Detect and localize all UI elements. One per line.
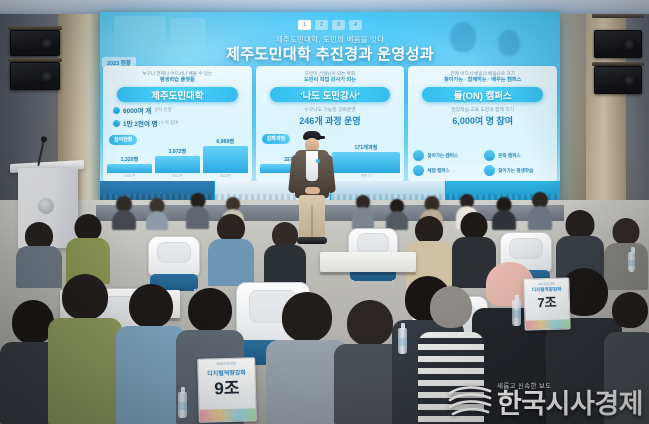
slide-badge-3: 3 [332,20,345,30]
chip-item: 찾아가는 평생학습 [484,165,552,176]
audience-person [264,222,306,288]
audience-person [352,195,374,229]
audience-person [112,196,136,230]
chip-item: 문화 캠퍼스 [484,150,552,161]
column-1-stat-1: 6000여 개 강좌 운영 [113,105,248,115]
tent-decoration [525,319,569,329]
right-speaker-upper [594,30,642,58]
slide-badge-1: 1 [298,20,311,30]
left-speaker-lower [10,62,60,90]
audience-person [48,274,122,424]
culture-icon [484,150,495,161]
column-1-stat-2: 1만 2천여 명 누적 참여 [113,118,248,128]
right-speaker-lower [594,66,642,94]
column-1-kicker: 누구나 언제나 어디서나 배울 수 있는 평생학습 플랫폼 [107,71,248,84]
tent-group-number: 7조 [525,295,569,309]
slide-column-3: 언제 어디서 배움의 배움으로 가기 찾아가는 · 함께하는 · 배우는 캠퍼스… [408,66,557,182]
book-icon [113,107,120,114]
chip-item: 찾아가는 캠퍼스 [413,150,481,161]
slide-badge-4: 4 [349,20,362,30]
photo-scene: 1 2 3 4 제주도민대학, 도민의 배움을 잇다 제주도민대학 추진경과 운… [0,0,649,424]
audience-person-striped [418,286,484,424]
water-bottle [512,300,521,326]
audience-person [528,192,552,230]
column-2-midbig: 246개 과정 운영 [260,114,401,127]
water-bottle [398,328,407,354]
table-tent-sign-9: 제주도민대학 디지털역량강화 9조 [197,357,257,422]
column-3-kicker: 언제 어디서 배움의 배움으로 가기 찾아가는 · 함께하는 · 배우는 캠퍼스 [412,71,553,84]
table-tent-sign-7: 제주도민대학 디지털역량강화 7조 [523,277,570,330]
digital-icon [484,165,495,176]
community-icon [413,165,424,176]
water-bottle [178,392,187,418]
audience-person [186,193,209,229]
slide-title: 제주도민대학 추진경과 운영성과 [100,43,560,64]
presenter-shirt [306,151,318,181]
tent-subheader: 디지털역량강화 [525,286,569,293]
audience-person [208,214,254,286]
tent-decoration [200,408,256,421]
slide-badge-2: 2 [315,20,328,30]
water-bottle [628,252,635,272]
right-speaker-shelf [592,14,644,18]
column-1-bar-chart: 1,320명 2021년 3,972명 2022년 6,989명 2023년 [107,141,248,179]
column-3-midbig: 6,000여 명 참여 [412,114,553,127]
column-1-pill: 제주도민대학 [117,87,238,102]
column-3-chip-grid: 찾아가는 캠퍼스 문화 캠퍼스 체험 캠퍼스 찾아가는 평생학습 [413,150,552,176]
podium-emblem [38,198,54,214]
campus-icon [413,150,424,161]
audience-person [386,199,408,230]
column-2-midline: 누구나도 가능한 강좌운영 [260,106,401,113]
presenter-name-badge [316,159,320,163]
people-icon [113,120,120,127]
bar-item: 1,320명 2021년 [107,156,152,179]
bar-item: 6,989명 2023년 [203,138,248,179]
presenter-hands [305,187,320,194]
column-2-pill: '나도 도민강사' [270,87,391,102]
table [320,252,416,272]
bar-item: 3,972명 2022년 [155,148,200,179]
slide-header-badges: 1 2 3 4 [100,20,560,30]
tent-group-number: 9조 [199,379,255,397]
left-speaker-upper [10,30,60,56]
audience-person [604,292,649,424]
slide-column-1: 누구나 언제나 어디서나 배울 수 있는 평생학습 플랫폼 제주도민대학 600… [103,66,252,182]
tent-subheader: 디지털역량강화 [198,367,254,377]
chip-item: 체험 캠퍼스 [413,165,481,176]
column-2-subhead: 강좌과정 [262,134,290,144]
audience-person [146,198,168,230]
column-2-kicker: 도민이 선생님이 되는 특화 도민이 직접 강사가 되는 [260,71,401,84]
column-3-pill: 돌(ON) 캠퍼스 [422,87,543,102]
bar-item: 171개과정 하반기 [332,144,401,179]
column-3-midline: 현장학습 교육 도민과 함께 하기 [412,106,553,113]
